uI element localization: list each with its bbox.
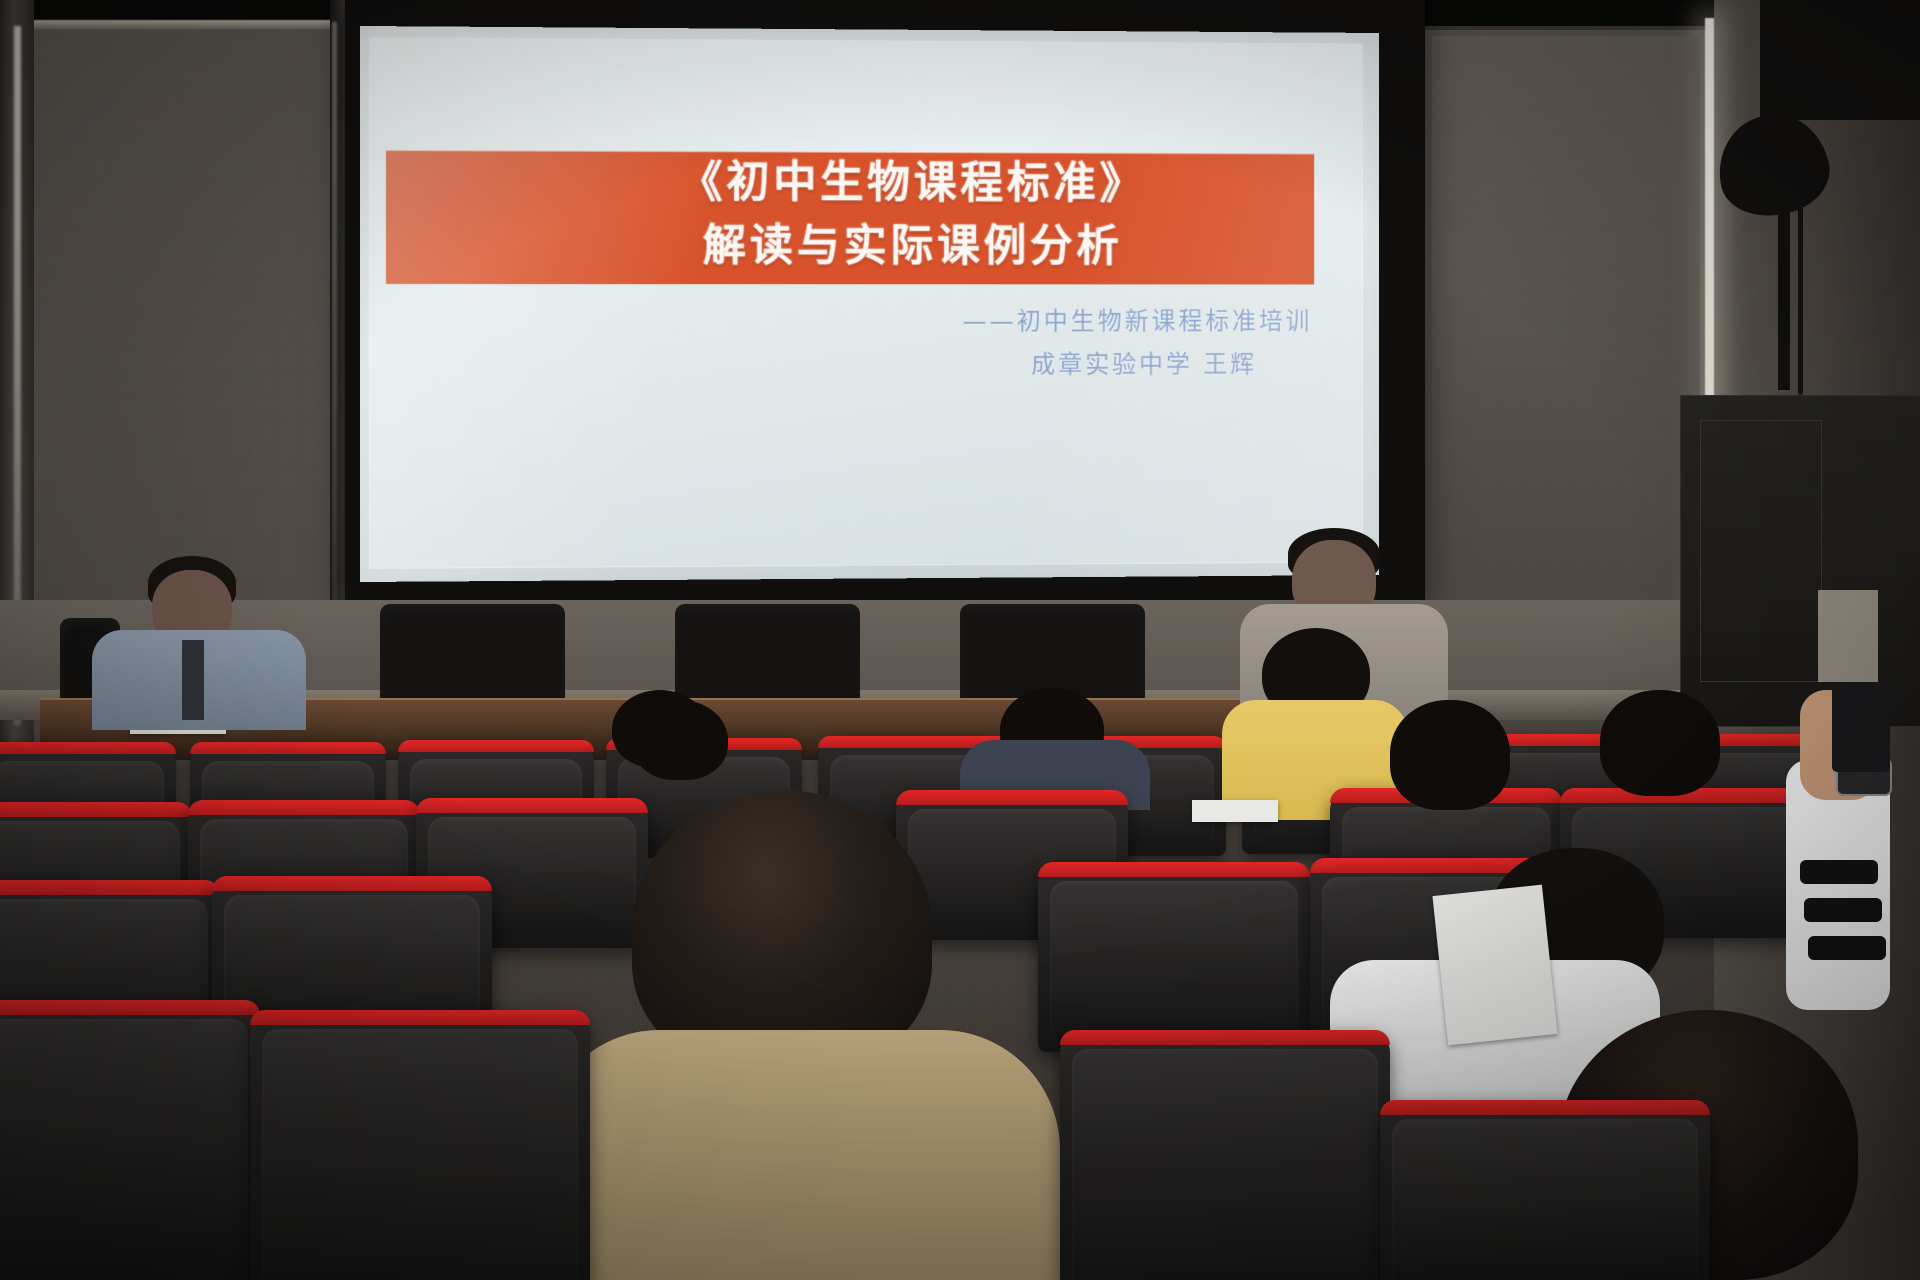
pilaster-highlight-mid xyxy=(332,22,337,662)
sleeve-stripe xyxy=(1800,860,1878,884)
seat xyxy=(1380,1100,1710,1280)
presenter-left-tie xyxy=(182,640,204,720)
cabinet-door xyxy=(1700,420,1822,682)
slide-subtitle-line-2: 成章实验中学 王辉 xyxy=(386,343,1312,388)
foreground-audience-head xyxy=(632,790,932,1070)
audience-head xyxy=(632,700,728,780)
slide-surface: 《初中生物课程标准》 解读与实际课例分析 ——初中生物新课程标准培训 成章实验中… xyxy=(370,38,1362,568)
sleeve-stripe xyxy=(1808,936,1886,960)
mobile-phone xyxy=(1832,686,1890,772)
audience-paper xyxy=(1192,800,1278,822)
audience-handout xyxy=(1432,885,1557,1046)
audience-head xyxy=(1390,700,1510,810)
slide-subtitle-block: ——初中生物新课程标准培训 成章实验中学 王辉 xyxy=(386,300,1331,388)
whiteboard-panel xyxy=(1432,36,1700,576)
seat xyxy=(0,1000,260,1280)
seat xyxy=(1060,1030,1390,1280)
spotlight-cable xyxy=(1798,200,1803,395)
cabinet-label-plate xyxy=(1818,590,1878,682)
foreground-audience-torso xyxy=(540,1030,1060,1280)
lecture-hall-photo: 《初中生物课程标准》 解读与实际课例分析 ——初中生物新课程标准培训 成章实验中… xyxy=(0,0,1920,1280)
spotlight-stand xyxy=(1778,205,1790,390)
projection-screen: 《初中生物课程标准》 解读与实际课例分析 ——初中生物新课程标准培训 成章实验中… xyxy=(360,26,1379,582)
slide-title-band: 《初中生物课程标准》 解读与实际课例分析 xyxy=(386,150,1314,284)
audience-head xyxy=(1600,690,1720,796)
right-ceiling-shadow xyxy=(1760,0,1920,120)
seat xyxy=(1038,862,1310,1052)
sleeve-stripe xyxy=(1804,898,1882,922)
slide-title-line-2: 解读与实际课例分析 xyxy=(386,214,1314,279)
slide-subtitle-line-1: ——初中生物新课程标准培训 xyxy=(386,300,1312,344)
slide-title-line-1: 《初中生物课程标准》 xyxy=(386,150,1314,216)
seat xyxy=(250,1010,590,1280)
